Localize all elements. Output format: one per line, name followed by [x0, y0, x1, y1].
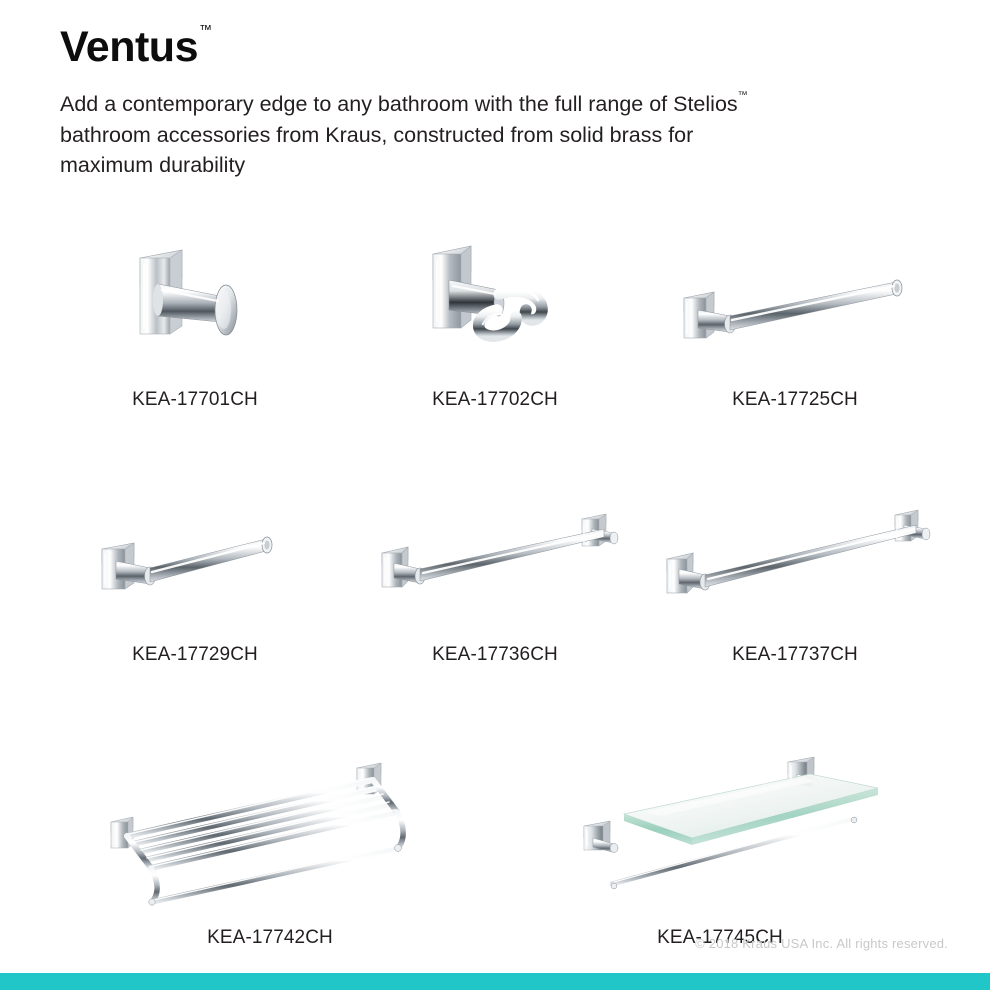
description-line-1: Add a contemporary edge to any bathroom … — [60, 92, 738, 116]
product-sku-label: KEA-17725CH — [732, 389, 858, 411]
brand-name: Ventus — [60, 23, 198, 71]
product-cell-kea-17742ch[interactable]: KEA-17742CH — [45, 741, 495, 949]
product-cell-kea-17701ch[interactable]: KEA-17701CH — [45, 235, 345, 411]
product-image-towel-rack-shelf — [45, 741, 495, 911]
page-header: Ventus™ Add a contemporary edge to any b… — [60, 26, 940, 181]
product-sku-label: KEA-17737CH — [732, 644, 858, 666]
product-image-toilet-paper-holder — [45, 496, 345, 616]
product-cell-kea-17729ch[interactable]: KEA-17729CH — [45, 496, 345, 666]
product-sku-label: KEA-17702CH — [432, 389, 558, 411]
stelios-trademark-symbol: ™ — [738, 90, 748, 101]
product-row-2: KEA-17729CH — [0, 496, 990, 666]
product-image-glass-shelf — [495, 741, 945, 911]
product-row-3: KEA-17742CH — [0, 741, 990, 949]
product-sku-label: KEA-17701CH — [132, 389, 258, 411]
description-line-2: bathroom accessories from Kraus, constru… — [60, 123, 693, 147]
page-description: Add a contemporary edge to any bathroom … — [60, 69, 910, 181]
product-image-hand-towel-holder — [645, 235, 945, 365]
product-cell-kea-17725ch[interactable]: KEA-17725CH — [645, 235, 945, 411]
product-image-robe-hook-double — [345, 235, 645, 365]
product-image-towel-bar-24 — [345, 496, 645, 616]
product-sku-label: KEA-17736CH — [432, 644, 558, 666]
product-sku-label: KEA-17729CH — [132, 644, 258, 666]
accent-bar — [0, 973, 990, 990]
page-title: Ventus™ — [60, 26, 211, 69]
description-line-3: maximum durability — [60, 153, 245, 177]
product-image-robe-hook-single — [45, 235, 345, 365]
product-cell-kea-17702ch[interactable]: KEA-17702CH — [345, 235, 645, 411]
product-sheet-page: Ventus™ Add a contemporary edge to any b… — [0, 0, 990, 990]
product-sku-label: KEA-17742CH — [207, 927, 333, 949]
product-grid: KEA-17701CH — [0, 235, 990, 949]
product-cell-kea-17745ch[interactable]: KEA-17745CH — [495, 741, 945, 949]
product-row-1: KEA-17701CH — [0, 235, 990, 411]
product-cell-kea-17737ch[interactable]: KEA-17737CH — [645, 496, 945, 666]
product-cell-kea-17736ch[interactable]: KEA-17736CH — [345, 496, 645, 666]
product-image-towel-bar-30 — [645, 496, 945, 616]
trademark-symbol: ™ — [199, 22, 212, 37]
copyright-notice: © 2018 Kraus USA Inc. All rights reserve… — [695, 936, 948, 951]
